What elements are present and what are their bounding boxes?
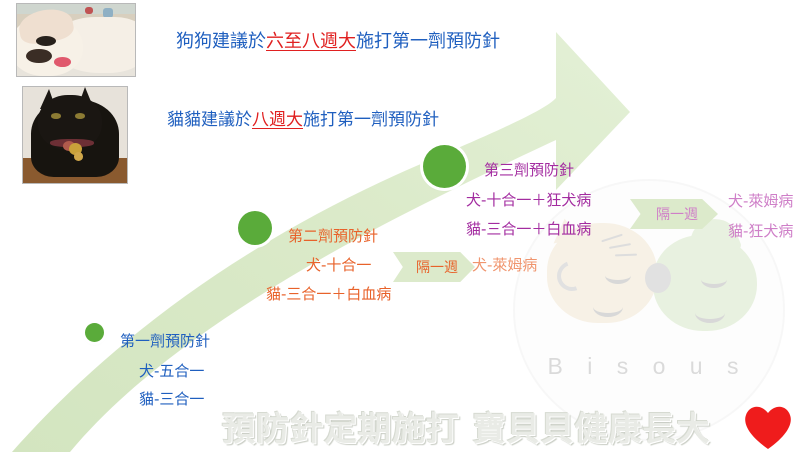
puppy-photo <box>16 3 136 77</box>
dose-1-cat-vaccine: 貓-三合一 <box>139 392 204 407</box>
dose-3-cat-vaccine: 貓-三合一＋白血病 <box>466 222 591 237</box>
cat-eye-right <box>75 113 85 119</box>
dose-3-dog-vaccine: 犬-十合一＋狂犬病 <box>466 193 591 208</box>
infographic-canvas: B i s o u s <box>0 0 800 460</box>
dose-4-cat-vaccine: 貓-狂犬病 <box>728 224 793 239</box>
dose-4-dog-vaccine: 犬-萊姆病 <box>728 194 793 209</box>
interval-badge-1: 隔一週 <box>393 252 475 282</box>
cat-photo <box>22 86 128 184</box>
cat-advice-prefix: 貓貓建議於 <box>167 110 252 130</box>
interval-badge-2: 隔一週 <box>630 199 718 229</box>
puppy-eye <box>36 36 56 46</box>
milestone-dot-dose-1 <box>85 323 104 342</box>
cat-advice-age: 八週大 <box>252 110 303 130</box>
dose-2-title: 第二劑預防針 <box>288 229 378 244</box>
dose-3-title: 第三劑預防針 <box>484 163 574 178</box>
cat-advice-line: 貓貓建議於八週大施打第一劑預防針 <box>167 112 439 129</box>
puppy-nose <box>26 49 52 63</box>
milestone-dot-dose-3 <box>423 145 466 188</box>
dog-advice-age: 六至八週大 <box>266 31 356 52</box>
dose-2-dog-vaccine: 犬-十合一 <box>306 258 371 273</box>
dose-2-followup-vaccine: 犬-萊姆病 <box>472 258 537 273</box>
puppy-photo-prop2 <box>85 7 92 14</box>
interval-badge-1-label: 隔一週 <box>410 257 458 277</box>
dose-1-title: 第一劑預防針 <box>120 334 210 349</box>
dog-advice-line: 狗狗建議於六至八週大施打第一劑預防針 <box>176 33 500 51</box>
heart-icon <box>742 402 794 452</box>
dog-advice-suffix: 施打第一劑預防針 <box>356 31 500 52</box>
bottom-slogan: 預防針定期施打 寶貝貝健康長大 <box>222 402 711 450</box>
dose-1-dog-vaccine: 犬-五合一 <box>139 364 204 379</box>
dog-advice-prefix: 狗狗建議於 <box>176 31 266 52</box>
interval-badge-2-label: 隔一週 <box>650 204 698 224</box>
milestone-dot-dose-2 <box>238 211 272 245</box>
cat-advice-suffix: 施打第一劑預防針 <box>303 110 439 130</box>
dose-2-cat-vaccine: 貓-三合一＋白血病 <box>266 287 391 302</box>
cat-eye-left <box>51 113 61 119</box>
